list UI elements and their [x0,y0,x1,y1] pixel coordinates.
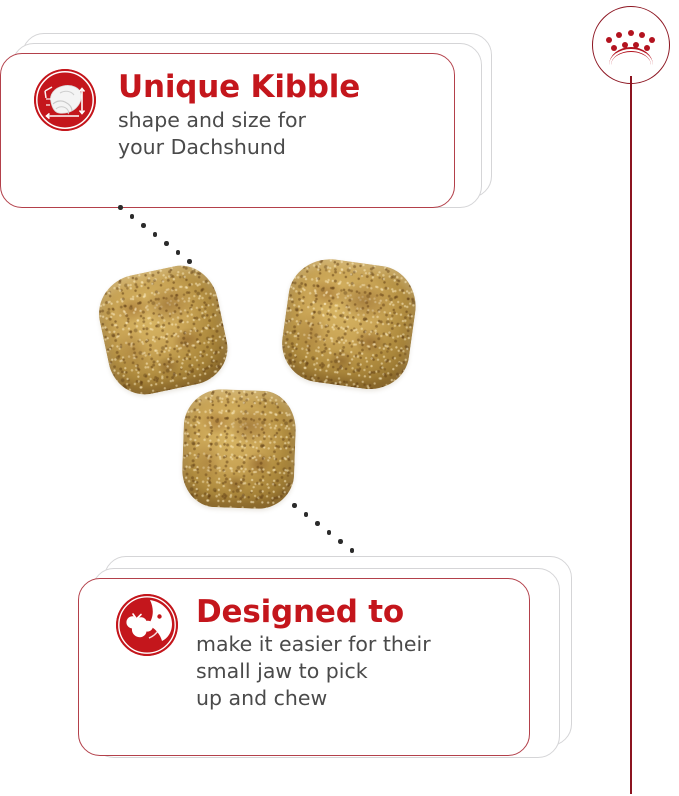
card-body-line: small jaw to pick [196,658,431,685]
kibble-measurement-icon [34,69,96,131]
brand-vertical-rule [630,76,632,794]
card-content: Designed to make it easier for their sma… [116,594,431,712]
product-feature-panel: Unique Kibble shape and size for your Da… [0,0,679,796]
dog-jaw-kibble-icon [116,594,178,656]
card-text-block: Designed to make it easier for their sma… [196,594,431,712]
kibble-photo [95,250,445,520]
kibble-piece [277,254,421,395]
card-body-line: your Dachshund [118,134,360,161]
feature-card-unique-kibble: Unique Kibble shape and size for your Da… [0,33,500,218]
crown-icon [606,30,656,62]
royal-canin-logo [592,6,674,88]
card-headline: Designed to [196,594,431,630]
card-content: Unique Kibble shape and size for your Da… [34,69,360,161]
card-body-line: make it easier for their [196,631,431,658]
kibble-piece [181,388,297,510]
card-text-block: Unique Kibble shape and size for your Da… [118,69,360,161]
card-body-line: up and chew [196,685,431,712]
card-headline: Unique Kibble [118,69,360,105]
feature-card-designed-to: Designed to make it easier for their sma… [78,556,578,768]
kibble-piece [92,259,234,401]
card-body-line: shape and size for [118,107,360,134]
